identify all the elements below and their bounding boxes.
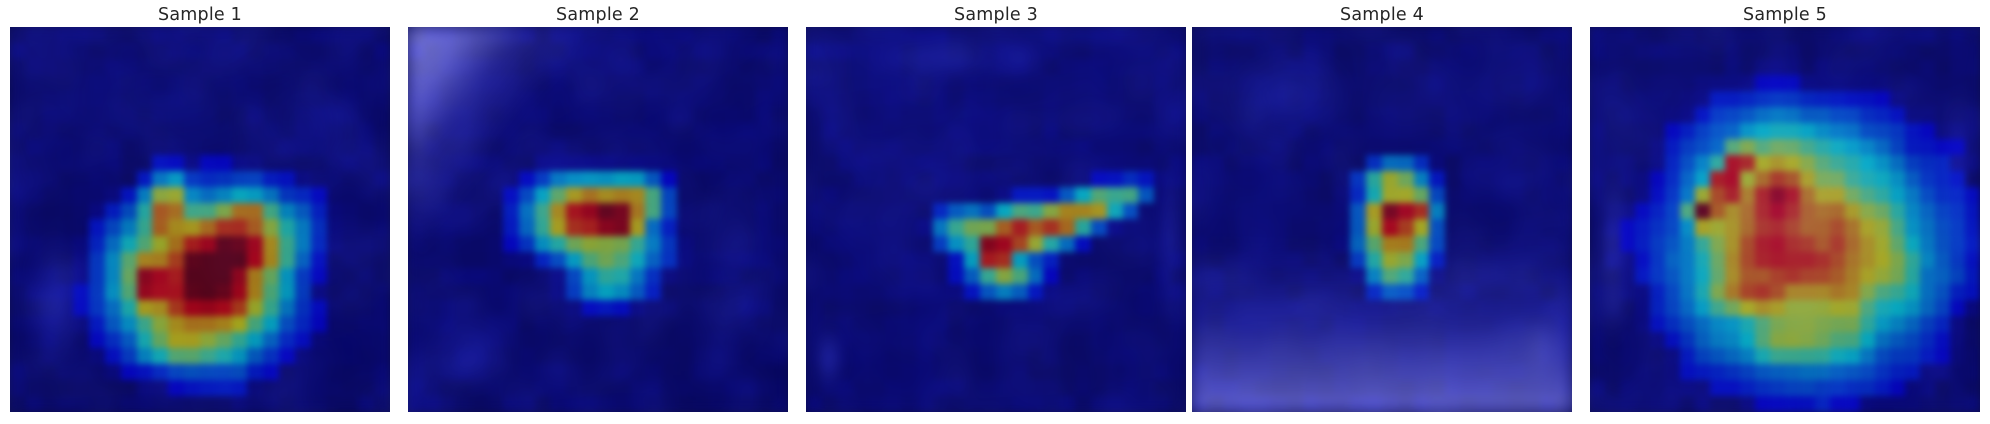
heat-cell (184, 380, 200, 396)
heat-cell (1350, 316, 1366, 332)
heat-cell (1890, 284, 1905, 300)
heat-cell (1710, 396, 1725, 412)
heat-cell (1650, 59, 1665, 75)
heat-cell (1540, 107, 1556, 123)
heat-cell (1303, 107, 1319, 123)
heat-cell (1785, 107, 1800, 123)
heat-cell (440, 236, 456, 252)
heat-cell (295, 203, 311, 219)
heat-cell (1710, 284, 1725, 300)
heat-cell (26, 91, 42, 107)
heat-cell (1710, 364, 1725, 380)
heat-cell (1556, 236, 1572, 252)
heatmap-image-4 (1192, 27, 1572, 412)
heat-cell (1208, 396, 1224, 412)
heat-cell (869, 59, 885, 75)
heat-cell (1414, 43, 1430, 59)
heat-cell (168, 284, 184, 300)
heat-cell (440, 107, 456, 123)
heat-cell (740, 396, 756, 412)
heat-cell (964, 187, 980, 203)
heat-cell (535, 219, 551, 235)
heat-cell (263, 171, 279, 187)
heat-cell (408, 123, 424, 139)
heat-cell (756, 268, 772, 284)
heat-cell (1710, 139, 1725, 155)
heat-cell (519, 219, 535, 235)
heat-cell (1366, 107, 1382, 123)
heat-cell (73, 236, 89, 252)
heat-cell (535, 236, 551, 252)
heat-cell (1461, 219, 1477, 235)
heat-cell (630, 91, 646, 107)
heat-cell (1650, 348, 1665, 364)
heat-cell (1920, 107, 1935, 123)
heat-cell (917, 348, 933, 364)
heat-cell (980, 348, 996, 364)
heat-cell (725, 236, 741, 252)
heat-cell (1350, 27, 1366, 43)
heat-cell (311, 91, 327, 107)
heat-cell (1192, 364, 1208, 380)
heat-cell (519, 364, 535, 380)
heat-cell (1224, 187, 1240, 203)
heat-cell (1170, 300, 1186, 316)
heat-cell (1800, 171, 1815, 187)
heat-cell (295, 268, 311, 284)
heat-cell (1740, 364, 1755, 380)
heat-cell (455, 139, 471, 155)
heat-cell (725, 187, 741, 203)
heat-cell (1770, 316, 1785, 332)
heat-cell (42, 396, 58, 412)
heat-cell (1680, 123, 1695, 139)
heat-cell (901, 300, 917, 316)
heat-cell (1107, 316, 1123, 332)
heat-cell (996, 364, 1012, 380)
heat-cell (1950, 332, 1965, 348)
heat-cell (1770, 187, 1785, 203)
heat-cell (424, 107, 440, 123)
heat-cell (471, 203, 487, 219)
heat-cell (1012, 364, 1028, 380)
heat-cell (1875, 316, 1890, 332)
heat-cell (1830, 252, 1845, 268)
heat-cell (1509, 300, 1525, 316)
heat-cell (1138, 219, 1154, 235)
heat-cell (216, 396, 232, 412)
heat-cell (455, 284, 471, 300)
heat-cell (1770, 236, 1785, 252)
heat-cell (1255, 75, 1271, 91)
heat-cell (152, 75, 168, 91)
heat-cell (1770, 27, 1785, 43)
heat-cell (471, 171, 487, 187)
heat-cell (1635, 43, 1650, 59)
heat-cell (358, 284, 374, 300)
heat-cell (677, 396, 693, 412)
heat-cell (311, 348, 327, 364)
heat-cell (503, 300, 519, 316)
heat-cell (756, 75, 772, 91)
heat-cell (838, 348, 854, 364)
heat-cell (232, 268, 248, 284)
heat-cell (661, 187, 677, 203)
heat-cell (200, 91, 216, 107)
heat-cell (1303, 236, 1319, 252)
heat-cell (1477, 348, 1493, 364)
heat-cell (598, 252, 614, 268)
heat-cell (1920, 43, 1935, 59)
heat-cell (1138, 203, 1154, 219)
heat-cell (105, 332, 121, 348)
heat-cell (1075, 300, 1091, 316)
heat-cell (661, 284, 677, 300)
heat-cell (598, 203, 614, 219)
heat-cell (1509, 187, 1525, 203)
heat-cell (152, 236, 168, 252)
heat-cell (152, 107, 168, 123)
heat-cell (358, 268, 374, 284)
heat-cell (42, 139, 58, 155)
heat-cell (1075, 364, 1091, 380)
heat-cell (1920, 139, 1935, 155)
heat-cell (1905, 75, 1920, 91)
heat-cell (232, 348, 248, 364)
heat-cell (740, 155, 756, 171)
heat-cell (1043, 219, 1059, 235)
heat-cell (519, 91, 535, 107)
heat-cell (996, 316, 1012, 332)
heat-cell (1860, 332, 1875, 348)
heat-cell (806, 75, 822, 91)
heat-cell (57, 380, 73, 396)
heat-cell (550, 380, 566, 396)
heat-cell (10, 59, 26, 75)
heat-cell (1620, 139, 1635, 155)
heat-cell (1905, 316, 1920, 332)
heat-cell (1319, 27, 1335, 43)
heat-cell (901, 284, 917, 300)
heat-cell (487, 203, 503, 219)
heat-cell (503, 43, 519, 59)
heat-cell (1319, 171, 1335, 187)
heat-cell (1695, 380, 1710, 396)
heat-cell (1123, 268, 1139, 284)
heat-cell (374, 75, 390, 91)
heat-cell (1725, 236, 1740, 252)
heat-cell (1287, 171, 1303, 187)
heat-cell (550, 364, 566, 380)
heat-cell (933, 380, 949, 396)
heat-cell (1075, 75, 1091, 91)
heat-cell (1075, 396, 1091, 412)
heat-cell (487, 284, 503, 300)
heat-cell (1755, 300, 1770, 316)
heat-cell (1429, 91, 1445, 107)
heat-cell (630, 316, 646, 332)
heat-cell (1920, 155, 1935, 171)
heat-cell (885, 332, 901, 348)
heat-cell (358, 155, 374, 171)
heat-cell (232, 27, 248, 43)
heat-cell (57, 139, 73, 155)
heat-cell (1590, 27, 1605, 43)
heat-cell (440, 268, 456, 284)
heat-cell (1770, 219, 1785, 235)
heat-cell (121, 316, 137, 332)
heat-cell (216, 268, 232, 284)
heat-cell (901, 59, 917, 75)
heat-cell (917, 91, 933, 107)
heat-cell (1382, 107, 1398, 123)
heat-cell (1287, 155, 1303, 171)
heat-cell (980, 187, 996, 203)
heat-cell (1935, 268, 1950, 284)
heat-cell (709, 252, 725, 268)
heat-cell (200, 348, 216, 364)
heat-cell (374, 139, 390, 155)
heat-cell (263, 219, 279, 235)
heat-cell (1170, 268, 1186, 284)
heat-cell (1755, 27, 1770, 43)
heat-cell (709, 59, 725, 75)
heat-cell (885, 219, 901, 235)
heat-cell (232, 59, 248, 75)
heat-cell (1905, 139, 1920, 155)
heat-cell (1138, 364, 1154, 380)
heat-cell (471, 380, 487, 396)
heat-cell (1382, 380, 1398, 396)
heat-cell (1107, 171, 1123, 187)
heat-cell (1755, 123, 1770, 139)
heat-cell (709, 219, 725, 235)
heat-cell (105, 187, 121, 203)
heat-cell (885, 91, 901, 107)
heat-cell (1770, 300, 1785, 316)
heat-cell (1509, 107, 1525, 123)
heat-cell (980, 123, 996, 139)
heat-cell (295, 187, 311, 203)
heat-cell (550, 203, 566, 219)
heat-cell (200, 396, 216, 412)
heat-cell (1635, 27, 1650, 43)
heat-cell (1334, 75, 1350, 91)
heat-cell (1815, 203, 1830, 219)
heat-cell (838, 236, 854, 252)
heat-cell (279, 252, 295, 268)
heat-cell (1770, 43, 1785, 59)
heat-cell (121, 332, 137, 348)
heat-cell (1350, 59, 1366, 75)
heat-cell (1366, 364, 1382, 380)
heat-cell (661, 171, 677, 187)
heat-cell (740, 43, 756, 59)
heat-cell (1770, 203, 1785, 219)
heat-cell (487, 139, 503, 155)
heat-cell (503, 203, 519, 219)
heat-cell (263, 155, 279, 171)
heat-cell (1414, 380, 1430, 396)
heat-cell (1860, 155, 1875, 171)
heat-cell (1770, 396, 1785, 412)
heat-cell (917, 332, 933, 348)
heat-cell (121, 139, 137, 155)
heat-cell (1740, 59, 1755, 75)
heat-cell (1319, 43, 1335, 59)
heat-cell (1524, 139, 1540, 155)
heat-cell (471, 236, 487, 252)
heat-cell (1665, 380, 1680, 396)
heat-cell (1477, 123, 1493, 139)
heat-cell (1445, 268, 1461, 284)
heat-cell (440, 187, 456, 203)
heat-cell (1620, 348, 1635, 364)
heat-cell (1012, 300, 1028, 316)
heat-cell (1950, 203, 1965, 219)
heat-cell (1635, 236, 1650, 252)
heat-cell (1012, 348, 1028, 364)
heat-cell (1830, 43, 1845, 59)
heat-cell (1635, 316, 1650, 332)
heat-cell (1725, 284, 1740, 300)
heat-cell (869, 380, 885, 396)
heat-cell (885, 123, 901, 139)
heat-cell (1650, 380, 1665, 396)
heat-cell (342, 268, 358, 284)
heat-cell (1028, 187, 1044, 203)
heat-cell (661, 59, 677, 75)
heat-cell (455, 203, 471, 219)
heat-cell (487, 171, 503, 187)
heat-cell (838, 203, 854, 219)
heat-cell (1815, 27, 1830, 43)
heat-cell (1382, 91, 1398, 107)
heat-cell (1845, 187, 1860, 203)
heat-cell (184, 59, 200, 75)
heat-cell (263, 284, 279, 300)
heat-cell (1224, 171, 1240, 187)
heat-cell (740, 123, 756, 139)
heat-cell (535, 396, 551, 412)
heat-cell (487, 27, 503, 43)
heat-cell (408, 332, 424, 348)
heat-cell (1028, 332, 1044, 348)
heat-cell (1028, 252, 1044, 268)
heat-cell (645, 219, 661, 235)
heat-cell (1725, 91, 1740, 107)
heat-cell (184, 348, 200, 364)
heat-cell (1845, 203, 1860, 219)
heat-cell (582, 236, 598, 252)
heat-cell (822, 300, 838, 316)
heat-cell (772, 364, 788, 380)
heat-cell (327, 59, 343, 75)
heat-cell (1680, 107, 1695, 123)
heat-cell (1123, 364, 1139, 380)
heat-cell (1012, 268, 1028, 284)
heat-cell (566, 396, 582, 412)
heat-cell (693, 300, 709, 316)
heat-cell (1845, 107, 1860, 123)
heat-cell (1665, 219, 1680, 235)
heat-cell (327, 91, 343, 107)
heat-cell (693, 27, 709, 43)
heat-cell (1493, 316, 1509, 332)
heat-cell (1414, 316, 1430, 332)
heat-cell (1950, 380, 1965, 396)
heat-cell (1303, 364, 1319, 380)
heat-cell (917, 396, 933, 412)
heat-cell (168, 27, 184, 43)
heat-cell (137, 203, 153, 219)
heat-cell (1590, 380, 1605, 396)
heat-cell (152, 396, 168, 412)
heat-cell (1138, 187, 1154, 203)
heat-cell (10, 268, 26, 284)
heat-cell (1965, 236, 1980, 252)
heat-cell (1665, 203, 1680, 219)
heat-cell (1695, 284, 1710, 300)
heat-cell (1170, 139, 1186, 155)
heat-cell (677, 59, 693, 75)
heat-cell (709, 27, 725, 43)
heat-cell (1461, 364, 1477, 380)
heat-cell (1725, 316, 1740, 332)
heat-cell (869, 219, 885, 235)
heat-cell (980, 75, 996, 91)
heat-cell (1429, 75, 1445, 91)
heat-cell (1815, 236, 1830, 252)
heat-cell (263, 332, 279, 348)
heat-cell (1770, 123, 1785, 139)
heat-cell (964, 316, 980, 332)
heat-cell (1059, 284, 1075, 300)
heat-cell (1725, 380, 1740, 396)
heat-cell (89, 203, 105, 219)
heat-cell (614, 396, 630, 412)
heat-cell (1059, 59, 1075, 75)
heat-cell (1107, 187, 1123, 203)
heat-cell (1192, 284, 1208, 300)
heat-cell (279, 27, 295, 43)
heat-cell (1590, 252, 1605, 268)
heat-cell (1524, 268, 1540, 284)
heat-cell (1935, 203, 1950, 219)
heat-cell (1255, 348, 1271, 364)
heat-cell (1755, 219, 1770, 235)
heat-cell (1965, 171, 1980, 187)
heat-cell (57, 236, 73, 252)
heat-cell (1665, 187, 1680, 203)
heat-cell (216, 123, 232, 139)
heat-cell (1414, 332, 1430, 348)
heat-cell (806, 316, 822, 332)
heat-cell (806, 155, 822, 171)
heat-cell (1815, 332, 1830, 348)
heat-cell (853, 268, 869, 284)
heat-cell (152, 171, 168, 187)
heat-cell (358, 123, 374, 139)
subplot-title-3: Sample 3 (806, 2, 1186, 29)
heat-cell (519, 396, 535, 412)
heat-cell (73, 75, 89, 91)
heat-cell (1445, 316, 1461, 332)
heat-cell (374, 107, 390, 123)
heat-cell (614, 171, 630, 187)
heat-cell (279, 43, 295, 59)
heat-cell (1138, 284, 1154, 300)
